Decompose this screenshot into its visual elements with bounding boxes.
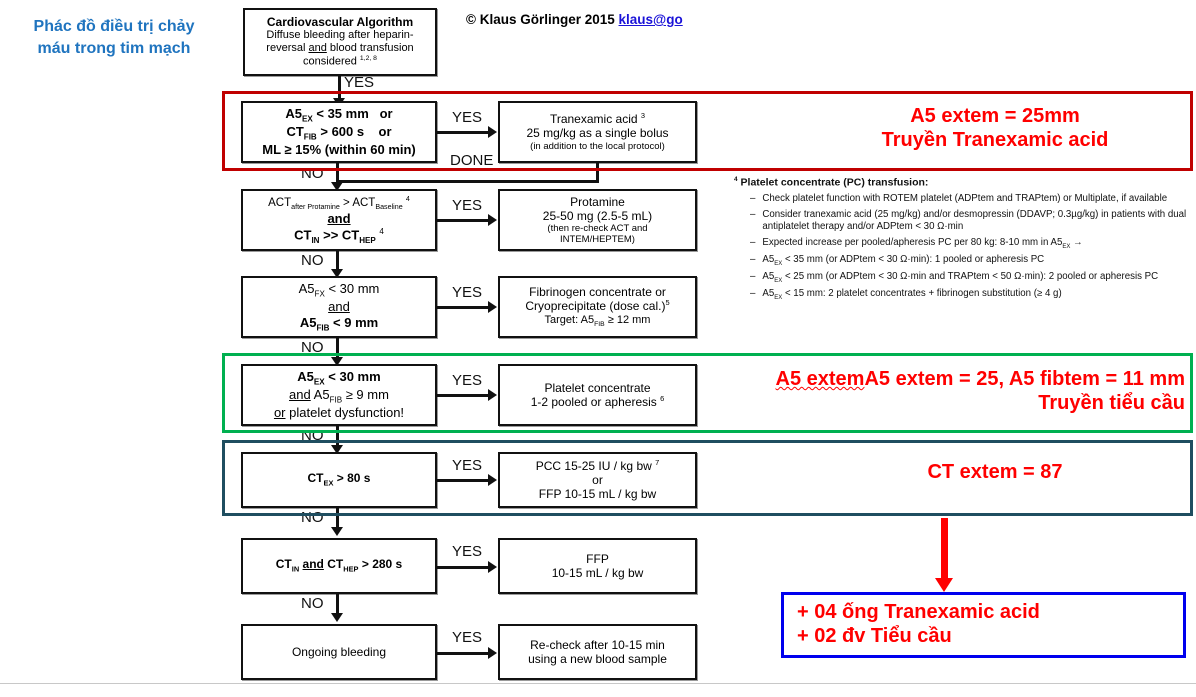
footnote-dash-icon: – — [750, 288, 755, 302]
action-fibrinogen-line-1: Fibrinogen concentrate or — [529, 285, 666, 299]
footnote-item: – A5EX < 35 mm (or ADPtem < 30 Ω·min): 1… — [734, 254, 1192, 268]
action-recheck-line-1: Re-check after 10-15 min — [530, 638, 665, 652]
action-ffp-line-2: 10-15 mL / kg bw — [552, 566, 644, 580]
slide-canvas: Phác đồ điều trị chảy máu trong tim mạch… — [0, 0, 1196, 697]
author-email-link[interactable]: klaus@go — [619, 12, 683, 27]
page-title-line-1: Phác đồ điều trị chảy — [14, 16, 214, 38]
yes-label-row3: YES — [452, 284, 482, 301]
condition-box-ffp: CTIN and CTHEP > 280 s — [241, 538, 437, 594]
annotation-text-tranexamic: A5 extem = 25mm Truyền Tranexamic acid — [805, 104, 1185, 153]
action-fibrinogen-line-3: Target: A5FIB ≥ 12 mm — [545, 314, 651, 329]
action-fibrinogen-line-2: Cryoprecipitate (dose cal.)5 — [525, 299, 669, 313]
condition-protamine-line-2: and — [327, 211, 350, 226]
yes-connector-row7 — [437, 652, 489, 655]
annotation-tranexamic-line-2: Truyền Tranexamic acid — [805, 128, 1185, 152]
action-protamine-line-3: (then re-check ACT and — [547, 223, 647, 234]
footnote-item: – Expected increase per pooled/apheresis… — [734, 237, 1192, 251]
start-box-line-3: considered 1,2, 8 — [303, 55, 377, 69]
condition-fibrinogen-line-2: and — [328, 299, 350, 314]
start-box-line-2: reversal and blood transfusion — [266, 42, 413, 55]
yes-connector-row2 — [437, 219, 489, 222]
action-box-ffp: FFP 10-15 mL / kg bw — [498, 538, 697, 594]
yes-label-row6: YES — [452, 543, 482, 560]
footnote-item-text: Check platelet function with ROTEM plate… — [762, 193, 1192, 206]
footnote-item-text: A5EX < 15 mm: 2 platelet concentrates + … — [762, 288, 1192, 302]
condition-box-protamine: ACTafter Protamine > ACTBaseline 4 and C… — [241, 189, 437, 251]
footnote-platelet-transfusion: 4 Platelet concentrate (PC) transfusion:… — [734, 176, 1192, 302]
condition-box-ongoing-bleeding: Ongoing bleeding — [241, 624, 437, 680]
action-box-protamine: Protamine 25-50 mg (2.5-5 mL) (then re-c… — [498, 189, 697, 251]
condition-ffp-line-1: CTIN and CTHEP > 280 s — [276, 557, 402, 574]
yes-label-row2: YES — [452, 197, 482, 214]
condition-protamine-line-1: ACTafter Protamine > ACTBaseline 4 — [268, 195, 410, 212]
no-label-row2: NO — [301, 252, 324, 269]
annotation-tranexamic-line-1: A5 extem = 25mm — [805, 104, 1185, 128]
action-protamine-line-2: 25-50 mg (2.5-5 mL) — [543, 209, 652, 223]
footnote-item: – Check platelet function with ROTEM pla… — [734, 193, 1192, 206]
copyright-text: © Klaus Görlinger 2015 — [466, 12, 615, 27]
copyright-notice: © Klaus Görlinger 2015 klaus@go — [466, 12, 683, 27]
no-arrow-row6 — [331, 613, 343, 622]
footnote-dash-icon: – — [750, 193, 755, 206]
footnote-heading: 4 Platelet concentrate (PC) transfusion: — [734, 176, 1192, 190]
annotation-text-ct-extem: CT extem = 87 — [805, 460, 1185, 484]
footnote-dash-icon: – — [750, 271, 755, 285]
yes-arrow-row7 — [488, 647, 497, 659]
start-box-title: Cardiovascular Algorithm — [267, 15, 413, 29]
condition-protamine-line-3: CTIN >> CTHEP 4 — [294, 227, 384, 245]
annotation-platelet-line-1: A5 extemA5 extem = 25, A5 fibtem = 11 mm… — [715, 367, 1185, 391]
annotation-ct-extem-line-1: CT extem = 87 — [805, 460, 1185, 484]
connector-start-label-yes: YES — [344, 74, 374, 91]
annotation-conclusion-line-1: + 04 ống Tranexamic acid — [797, 600, 1177, 624]
yes-arrow-row3 — [488, 301, 497, 313]
yes-label-row7: YES — [452, 629, 482, 646]
action-recheck-line-2: using a new blood sample — [528, 652, 667, 666]
start-box: Cardiovascular Algorithm Diffuse bleedin… — [243, 8, 437, 76]
footnote-item-text: Consider tranexamic acid (25 mg/kg) and/… — [762, 209, 1192, 235]
yes-connector-row6 — [437, 566, 489, 569]
footnote-item-text: Expected increase per pooled/apheresis P… — [762, 237, 1192, 251]
footnote-item-text: A5EX < 25 mm (or ADPtem < 30 Ω·min and T… — [762, 271, 1192, 285]
annotation-text-platelet: A5 extemA5 extem = 25, A5 fibtem = 11 mm… — [715, 367, 1185, 416]
action-protamine-line-4: INTEM/HEPTEM) — [560, 234, 635, 245]
annotation-platelet-line-2: Truyền tiểu cầu — [715, 391, 1185, 415]
yes-connector-row3 — [437, 306, 489, 309]
footnote-dash-icon: – — [750, 254, 755, 268]
footnote-item: – A5EX < 15 mm: 2 platelet concentrates … — [734, 288, 1192, 302]
action-box-recheck: Re-check after 10-15 min using a new blo… — [498, 624, 697, 680]
condition-fibrinogen-line-3: A5FIB < 9 mm — [300, 315, 378, 333]
condition-ongoing-line-1: Ongoing bleeding — [292, 645, 386, 659]
yes-arrow-row2 — [488, 214, 497, 226]
red-arrow-head — [935, 578, 953, 592]
footnote-item-text: A5EX < 35 mm (or ADPtem < 30 Ω·min): 1 p… — [762, 254, 1192, 268]
done-hline-row1 — [336, 180, 598, 183]
start-box-line-1: Diffuse bleeding after heparin- — [266, 29, 413, 42]
yes-arrow-row6 — [488, 561, 497, 573]
footnote-item: – Consider tranexamic acid (25 mg/kg) an… — [734, 209, 1192, 235]
annotation-conclusion-line-2: + 02 đv Tiểu cầu — [797, 624, 1177, 648]
action-ffp-line-1: FFP — [586, 552, 609, 566]
action-protamine-line-1: Protamine — [570, 195, 625, 209]
condition-box-fibrinogen: A5FX < 30 mm and A5FIB < 9 mm — [241, 276, 437, 338]
condition-fibrinogen-line-1: A5FX < 30 mm — [299, 281, 380, 299]
no-arrow-row5 — [331, 527, 343, 536]
action-box-fibrinogen: Fibrinogen concentrate or Cryoprecipitat… — [498, 276, 697, 338]
footnote-marker: 4 — [734, 176, 738, 183]
red-arrow-shaft — [941, 518, 948, 580]
no-label-row6: NO — [301, 595, 324, 612]
page-title-line-2: máu trong tim mạch — [14, 38, 214, 60]
page-title: Phác đồ điều trị chảy máu trong tim mạch — [14, 16, 214, 59]
bottom-divider — [0, 683, 1196, 684]
footnote-dash-icon: – — [750, 237, 755, 251]
annotation-text-conclusion: + 04 ống Tranexamic acid + 02 đv Tiểu cầ… — [797, 600, 1177, 649]
footnote-dash-icon: – — [750, 209, 755, 235]
footnote-item: – A5EX < 25 mm (or ADPtem < 30 Ω·min and… — [734, 271, 1192, 285]
